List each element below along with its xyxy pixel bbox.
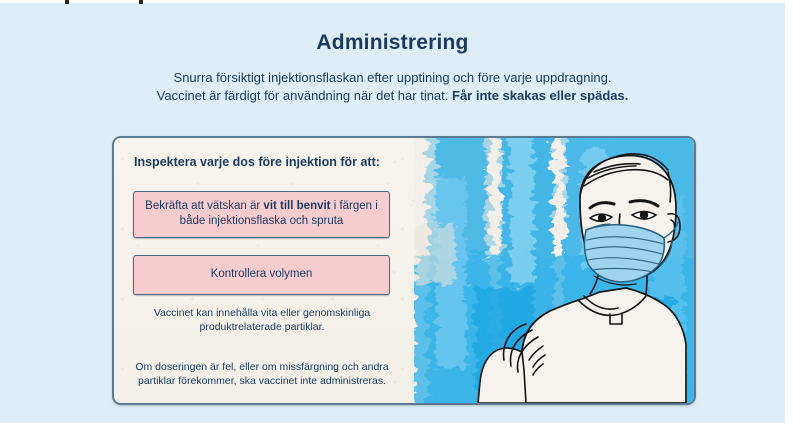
cut-text-mark: [139, 0, 143, 4]
pupil-right: [641, 212, 648, 219]
cut-text-mark: [65, 0, 69, 4]
torso-shape: [522, 288, 686, 403]
card-heading: Inspektera varje dos före injektion för …: [134, 155, 380, 169]
slide-canvas: Administrering Snurra försiktigt injekti…: [0, 3, 785, 423]
note-do-not-administer: Om doseringen är fel, eller om missfärgn…: [121, 360, 403, 388]
page-title: Administrering: [0, 31, 785, 55]
subtitle-line-1: Snurra försiktigt injektionsflaskan efte…: [174, 70, 612, 85]
instruction-box-check-volume[interactable]: Kontrollera volymen: [133, 255, 390, 295]
subtitle-line-2-plain: Vaccinet är färdigt för användning när d…: [157, 88, 452, 103]
surgical-mask: [584, 225, 664, 282]
confirm-text-bold: vit till benvit: [263, 200, 330, 212]
page-subtitle: Snurra försiktigt injektionsflaskan efte…: [0, 69, 785, 105]
instruction-card: Inspektera varje dos före injektion för …: [112, 136, 696, 405]
confirm-text-before: Bekräfta att vätskan är: [145, 200, 263, 212]
instruction-box-confirm-appearance[interactable]: Bekräfta att vätskan är vit till benvit …: [133, 191, 390, 238]
masked-person-svg: [414, 138, 694, 403]
note-particles: Vaccinet kan innehålla vita eller genoms…: [121, 306, 403, 334]
pupil-left: [599, 215, 606, 222]
masked-person-illustration: [414, 138, 694, 403]
subtitle-line-2-bold: Får inte skakas eller spädas.: [452, 88, 628, 103]
